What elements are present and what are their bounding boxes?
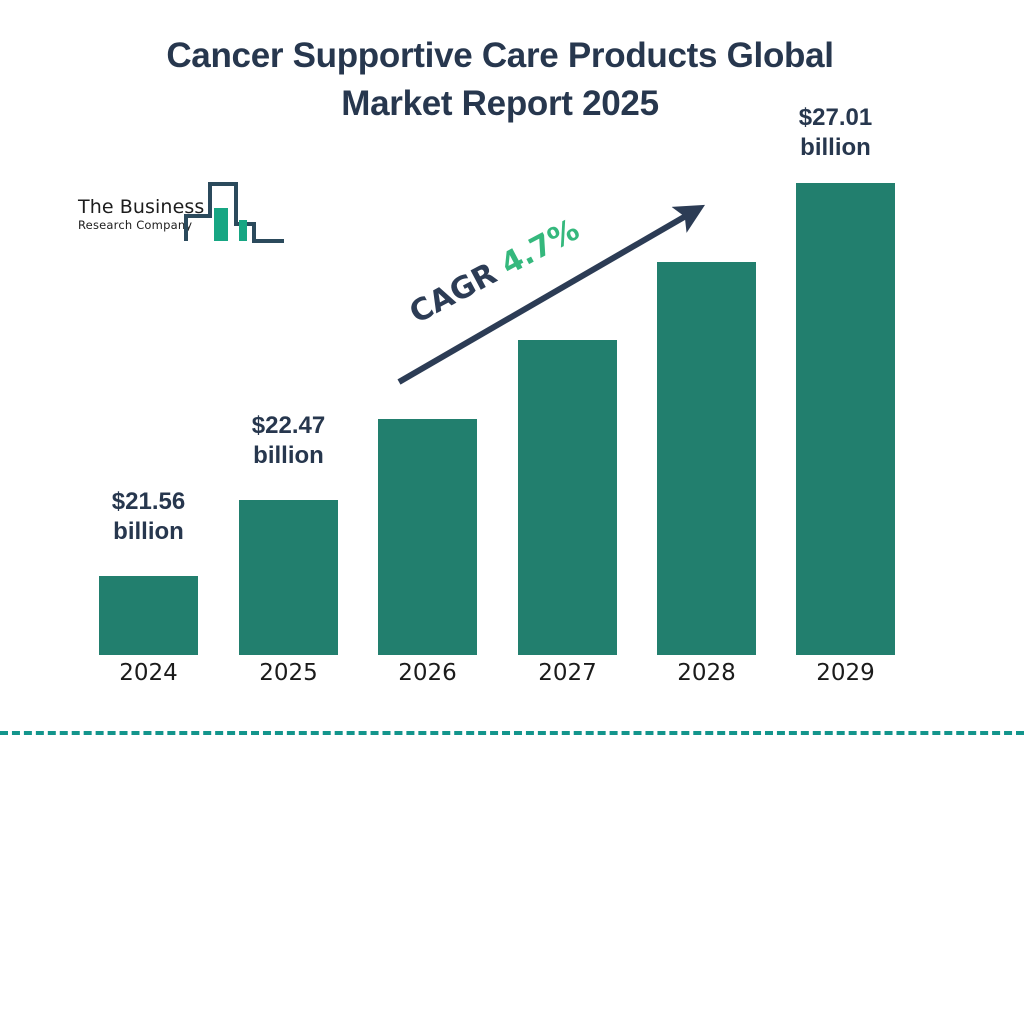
footer-divider xyxy=(0,731,1024,735)
chart-canvas: Cancer Supportive Care Products Global M… xyxy=(0,0,1024,768)
cagr-growth-arrow-icon xyxy=(0,0,1024,768)
bar-chart-plot: $21.56 billion $22.47 billion $27.01 bil… xyxy=(0,0,1024,768)
